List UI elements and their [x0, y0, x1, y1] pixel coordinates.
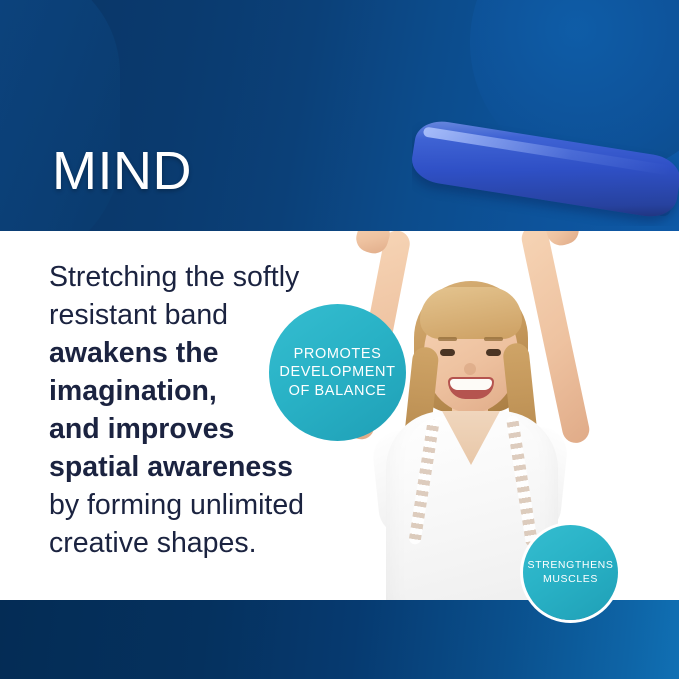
copy-line-7: by forming unlimited [49, 486, 379, 524]
header-band: MIND BODY BENEFITS [0, 0, 679, 231]
page-title: MIND BODY BENEFITS [52, 22, 320, 231]
copy-line-4: imagination, [49, 372, 379, 410]
copy-line-8: creative shapes. [49, 524, 379, 562]
figure-right-eye [486, 349, 501, 356]
copy-line-3: awakens the [49, 334, 379, 372]
copy-line-5: and improves [49, 410, 379, 448]
figure-left-eye [440, 349, 455, 356]
figure-left-eyebrow [438, 337, 457, 341]
headline-line-1: MIND [52, 142, 320, 202]
product-benefits-poster: MIND BODY BENEFITS [0, 0, 679, 679]
figure-right-eyebrow [484, 337, 503, 341]
badge-strengthens-muscles-text: STRENGTHENS MUSCLES [522, 559, 620, 586]
figure-nose [464, 363, 476, 375]
badge-muscles-line-2: MUSCLES [522, 573, 620, 586]
body-copy: Stretching the softly resistant band awa… [49, 258, 379, 562]
badge-muscles-line-1: STRENGTHENS [522, 559, 620, 572]
figure-teeth [450, 379, 492, 390]
header-decorative-circle-right [470, 0, 679, 175]
copy-line-6: spatial awareness [49, 448, 379, 486]
badge-strengthens-muscles: STRENGTHENS MUSCLES [523, 525, 618, 620]
copy-line-2: resistant band [49, 296, 379, 334]
copy-line-1: Stretching the softly [49, 258, 379, 296]
figure-hair-fringe [420, 287, 522, 339]
